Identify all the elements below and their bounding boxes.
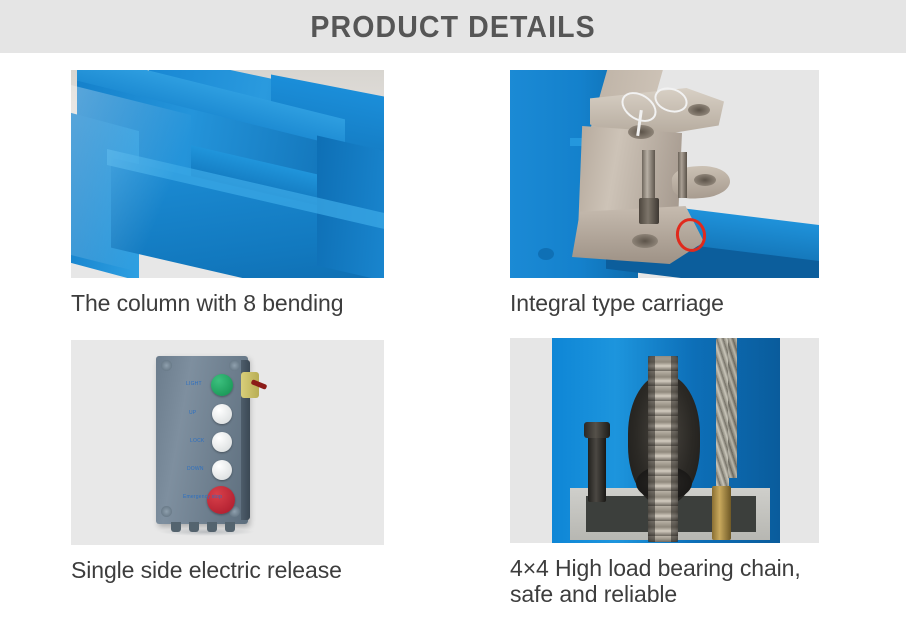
- down-button-label: DOWN: [187, 466, 204, 472]
- lock-button-label: LOCK: [190, 438, 204, 444]
- product-details-grid: The column with 8 bending Int: [0, 53, 906, 625]
- carriage-bolt-hole: [688, 104, 710, 116]
- carriage-bolt-hole: [632, 234, 658, 248]
- light-button-label: LIGHT: [186, 381, 202, 387]
- control-box-photo[interactable]: LIGHT UP LOCK DOWN Emergency stop: [71, 340, 384, 545]
- page-title: PRODUCT DETAILS: [310, 9, 595, 45]
- page-header-band: PRODUCT DETAILS: [0, 0, 906, 53]
- corner-screw: [229, 360, 240, 371]
- carriage-bolt-hole: [628, 125, 654, 139]
- steel-cable-secondary: [728, 338, 737, 478]
- detail-caption: The column with 8 bending: [71, 278, 384, 316]
- anchor-bolt-head: [584, 422, 610, 438]
- carriage-bolt-hole: [694, 174, 716, 186]
- chain-side-plate-right: [671, 356, 678, 542]
- safety-pin-cap: [639, 198, 659, 224]
- column-bolt-nub: [538, 248, 554, 260]
- control-box-shadow: [159, 528, 255, 536]
- corner-screw: [161, 506, 172, 517]
- blue-bent-column-photo[interactable]: [71, 70, 384, 278]
- emergency-stop-button[interactable]: [207, 486, 235, 514]
- up-button-label: UP: [189, 410, 196, 416]
- chain-sprocket-photo[interactable]: [510, 338, 819, 543]
- secondary-pin-shaft: [678, 152, 687, 198]
- corner-screw: [161, 360, 172, 371]
- emergency-stop-label: Emergency stop: [183, 494, 222, 500]
- detail-caption: Integral type carriage: [510, 278, 819, 316]
- detail-card-single-side-electric-release[interactable]: LIGHT UP LOCK DOWN Emergency stop Single…: [71, 340, 384, 583]
- light-button[interactable]: [211, 374, 233, 396]
- up-button[interactable]: [212, 404, 232, 424]
- detail-caption: Single side electric release: [71, 545, 384, 583]
- chain-side-plate-left: [648, 356, 655, 542]
- brass-cable-ferrule: [712, 486, 731, 540]
- lock-button[interactable]: [212, 432, 232, 452]
- photo-gloss-highlight: [71, 85, 191, 278]
- integral-carriage-photo[interactable]: [510, 70, 819, 278]
- down-button[interactable]: [212, 460, 232, 480]
- detail-card-high-load-bearing-chain[interactable]: 4×4 High load bearing chain, safe and re…: [510, 338, 819, 607]
- detail-caption: 4×4 High load bearing chain, safe and re…: [510, 543, 819, 607]
- detail-card-integral-carriage[interactable]: Integral type carriage: [510, 70, 819, 316]
- detail-card-column-8-bending[interactable]: The column with 8 bending: [71, 70, 384, 316]
